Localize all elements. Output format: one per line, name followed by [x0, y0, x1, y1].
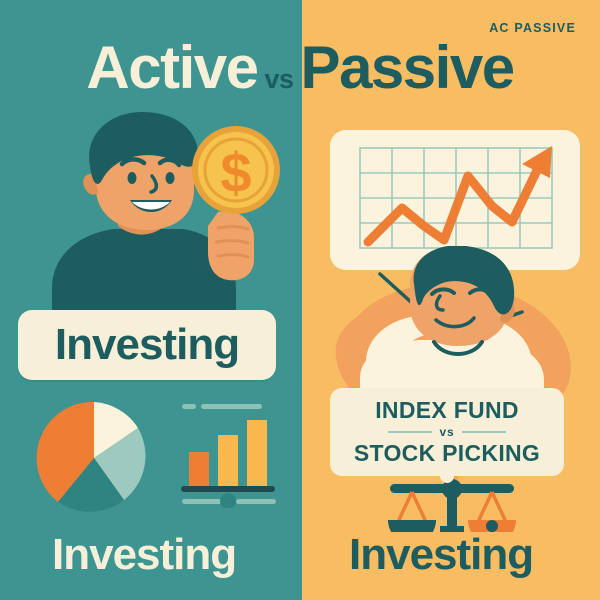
index-fund-vs-stock-picking-card: INDEX FUND vs STOCK PICKING	[330, 388, 564, 476]
tag-line-one: INDEX FUND	[375, 398, 519, 423]
tag-line-two: STOCK PICKING	[354, 441, 540, 466]
hand-holding-coin	[208, 211, 254, 280]
bottom-label-right: Investing	[349, 530, 533, 580]
title-word-passive: Passive	[301, 38, 514, 98]
rule-left	[388, 431, 432, 433]
brand-badge: AC PASSIVE	[489, 21, 576, 35]
title-separator-vs: vs	[265, 66, 294, 93]
poster-canvas: AC PASSIVE Active vs Passive	[0, 0, 600, 600]
tag-separator-vs: vs	[440, 425, 455, 439]
title-word-active: Active	[86, 38, 257, 98]
left-card-label: Investing	[55, 320, 239, 370]
pie-chart	[34, 398, 154, 518]
svg-text:$: $	[220, 141, 251, 204]
dollar-coin-icon: $	[192, 126, 280, 214]
bottom-label-left: Investing	[52, 530, 236, 580]
left-investing-card: Investing	[18, 310, 276, 380]
man-with-coin-illustration: $	[22, 108, 294, 323]
bar-chart	[180, 404, 280, 508]
tag-separator-row: vs	[388, 425, 507, 439]
page-title: Active vs Passive	[0, 38, 600, 106]
rule-right	[462, 431, 506, 433]
relaxed-man-illustration	[336, 246, 576, 404]
